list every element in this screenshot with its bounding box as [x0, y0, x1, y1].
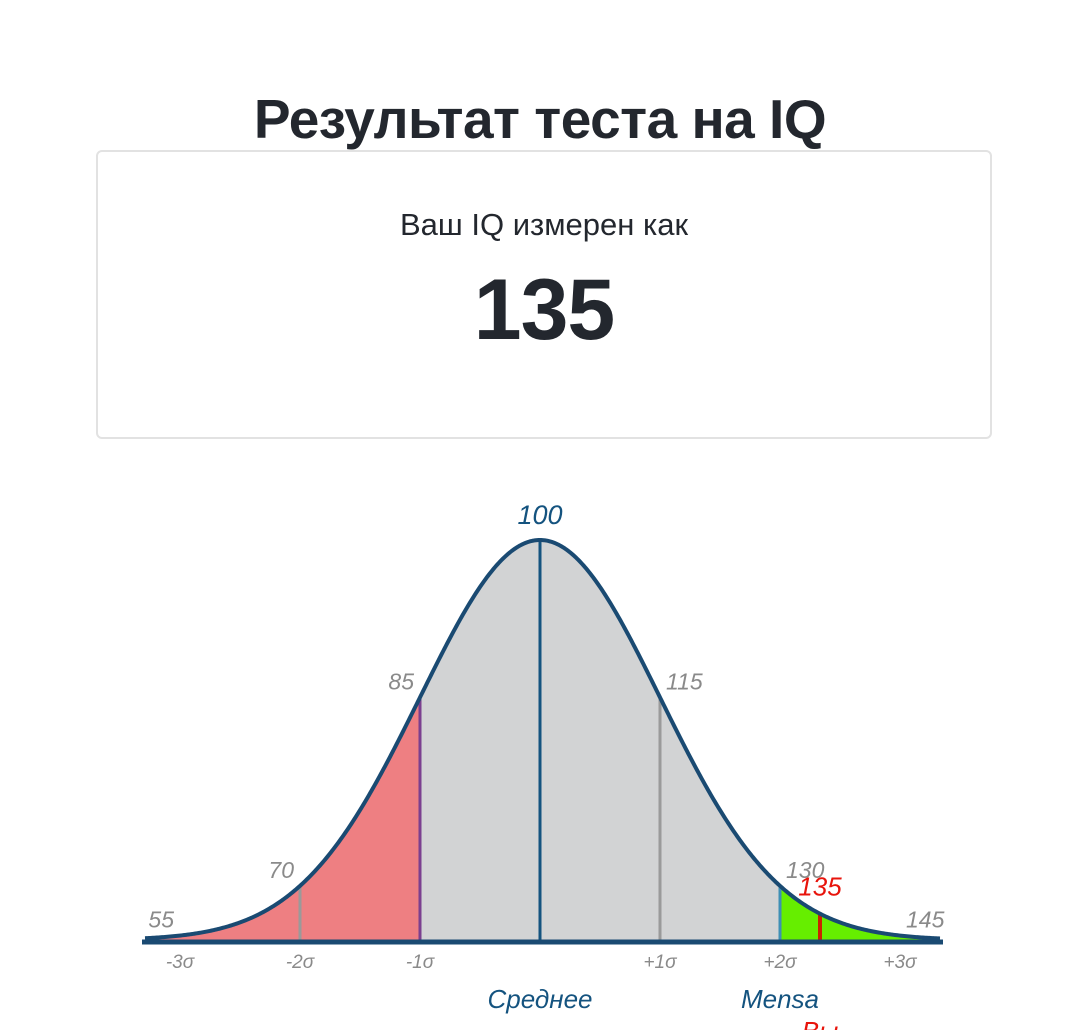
iq-value-label-145: 145 [906, 907, 945, 933]
iq-value-label-85: 85 [388, 668, 414, 694]
iq-value-label-135: 135 [798, 872, 842, 902]
result-score-value: 135 [98, 257, 990, 365]
iq-value-label-115: 115 [666, 668, 703, 694]
you-annotation: Вы [802, 1016, 838, 1030]
region-below-average [108, 520, 420, 940]
axis-tick--1sigma: -1σ [406, 952, 436, 973]
axis-tick-plus3sigma: +3σ [883, 952, 918, 973]
result-card: Ваш IQ измерен как 135 [96, 150, 992, 439]
axis-tick--3sigma: -3σ [166, 952, 196, 973]
axis-tick-plus1sigma: +1σ [643, 952, 678, 973]
iq-value-label-100: 100 [517, 500, 562, 530]
iq-distribution-chart: -3σ-2σ-1σ+1σ+2σ+3σ 557085100115130135145… [0, 470, 1080, 1030]
axis-tick-labels: -3σ-2σ-1σ+1σ+2σ+3σ [166, 952, 918, 973]
mean-annotation: Среднее [487, 984, 592, 1014]
axis-tick-plus2sigma: +2σ [763, 952, 798, 973]
iq-value-label-55: 55 [148, 907, 174, 933]
axis-tick--2sigma: -2σ [286, 952, 316, 973]
mensa-annotation: Mensa [741, 984, 819, 1014]
iq-value-label-70: 70 [268, 857, 294, 883]
result-label: Ваш IQ измерен как [98, 207, 990, 243]
page-title: Результат теста на IQ [0, 89, 1080, 150]
bell-curve-svg: -3σ-2σ-1σ+1σ+2σ+3σ 557085100115130135145… [0, 470, 1080, 1030]
chart-annotations: СреднееMensaВы [487, 984, 838, 1030]
region-average [420, 520, 780, 940]
